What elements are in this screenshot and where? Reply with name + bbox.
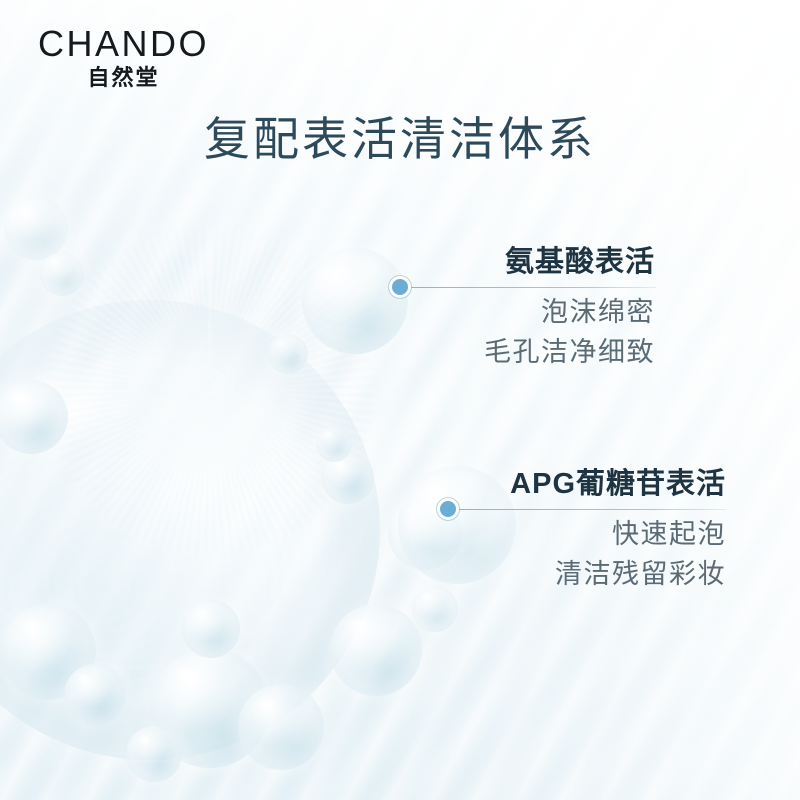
brand-wordmark: CHANDO xyxy=(38,26,209,62)
bubble-decoration xyxy=(126,726,182,782)
callout-body: 快速起泡 清洁残留彩妆 xyxy=(510,515,726,595)
callout-line: 泡沫绵密 xyxy=(484,293,655,333)
callout-line: 毛孔洁净细致 xyxy=(484,333,655,373)
callout-title: APG葡糖苷表活 xyxy=(510,470,726,499)
brand-chinese-name: 自然堂 xyxy=(38,67,209,89)
callout-title: 氨基酸表活 xyxy=(484,248,655,277)
connector-dot-2 xyxy=(437,498,459,520)
page-title: 复配表活清洁体系 xyxy=(0,112,800,166)
callout-apg-glucoside: APG葡糖苷表活 快速起泡 清洁残留彩妆 xyxy=(510,470,726,595)
callout-line: 清洁残留彩妆 xyxy=(510,555,726,595)
connector-dot-1 xyxy=(389,276,411,298)
product-feature-poster: CHANDO 自然堂 复配表活清洁体系 氨基酸表活 泡沫绵密 毛孔洁净细致 AP… xyxy=(0,0,800,800)
bubble-decoration xyxy=(182,600,240,658)
bubble-decoration xyxy=(238,684,324,770)
callout-amino-acid: 氨基酸表活 泡沫绵密 毛孔洁净细致 xyxy=(484,248,655,373)
callout-body: 泡沫绵密 毛孔洁净细致 xyxy=(484,293,655,373)
bubble-decoration xyxy=(268,334,308,374)
callout-line: 快速起泡 xyxy=(510,515,726,555)
brand-logo: CHANDO 自然堂 xyxy=(38,26,209,89)
bubble-decoration xyxy=(64,664,126,726)
bubble-decoration xyxy=(316,426,352,462)
